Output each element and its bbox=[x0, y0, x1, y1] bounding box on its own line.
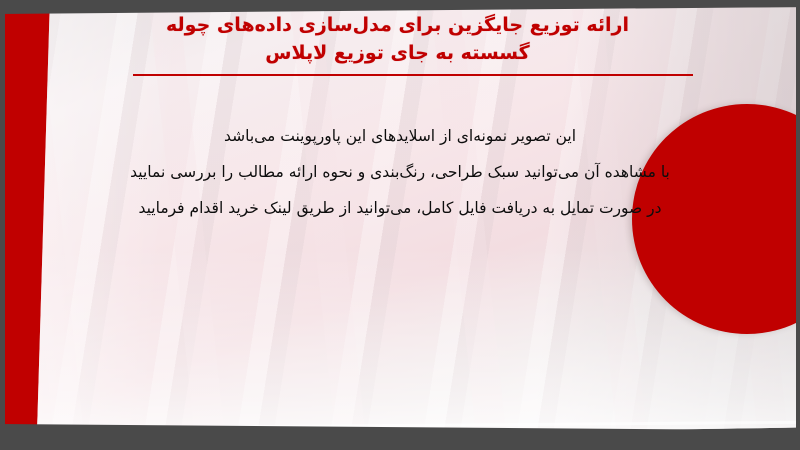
left-dark-edge bbox=[0, 0, 5, 450]
slide-body-line-1: این تصویر نمونه‌ای از اسلایدهای این پاور… bbox=[100, 118, 700, 154]
slide-body-line-2: با مشاهده آن می‌توانید سبک طراحی، رنگ‌بن… bbox=[100, 154, 700, 190]
slide-title-line-2: گسسته به جای توزیع لاپلاس bbox=[100, 39, 695, 67]
title-underline-rule bbox=[133, 74, 693, 76]
slide-title-line-1: ارائه توزیع جایگزین برای مدل‌سازی داده‌ه… bbox=[100, 11, 695, 39]
slide-title: ارائه توزیع جایگزین برای مدل‌سازی داده‌ه… bbox=[100, 11, 695, 67]
right-dark-edge bbox=[796, 0, 800, 450]
slide-body-text: این تصویر نمونه‌ای از اسلایدهای این پاور… bbox=[100, 118, 700, 226]
presentation-slide: ارائه توزیع جایگزین برای مدل‌سازی داده‌ه… bbox=[0, 0, 800, 450]
slide-body-line-3: در صورت تمایل به دریافت فایل کامل، می‌تو… bbox=[100, 190, 700, 226]
